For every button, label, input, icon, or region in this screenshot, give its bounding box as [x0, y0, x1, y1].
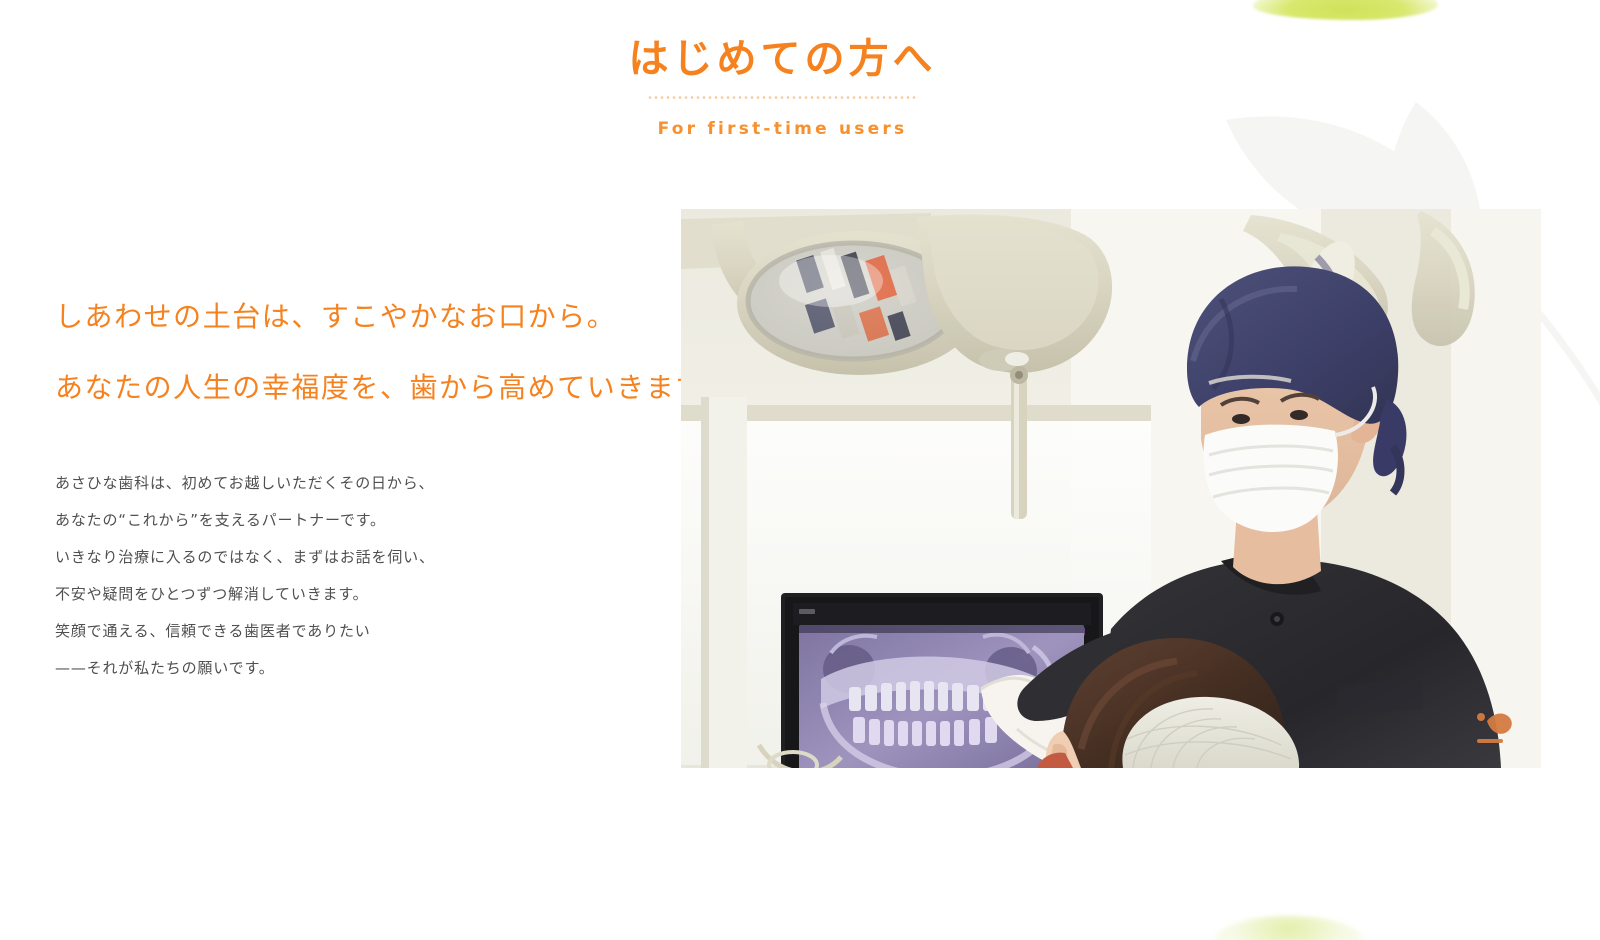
body-line-5: 笑顔で通える、信頼できる歯医者でありたい — [55, 624, 665, 639]
body-line-3: いきなり治療に入るのではなく、まずはお話を伺い、 — [55, 550, 665, 565]
green-brush-stroke-icon — [1214, 916, 1364, 940]
page-title: はじめての方へ — [0, 34, 1565, 84]
clinic-photo-illustration — [681, 209, 1541, 768]
body-line-4: 不安や疑問をひとつずつ解消していきます。 — [55, 587, 665, 602]
green-brush-stroke-icon — [1253, 0, 1438, 20]
section-header: はじめての方へ For first-time users — [0, 34, 1565, 139]
body-line-6: ——それが私たちの願いです。 — [55, 661, 665, 676]
lead-line-2: あなたの人生の幸福度を、歯から高めていきます。 — [55, 371, 665, 404]
clinic-photo — [681, 209, 1541, 768]
title-dotted-rule — [647, 96, 919, 99]
body-line-2: あなたの“これから”を支えるパートナーです。 — [55, 513, 665, 528]
intro-body-copy: あさひな歯科は、初めてお越しいただくその日から、 あなたの“これから”を支えるパ… — [55, 476, 665, 676]
body-line-1: あさひな歯科は、初めてお越しいただくその日から、 — [55, 476, 665, 491]
page-subtitle: For first-time users — [0, 119, 1565, 139]
lead-line-1: しあわせの土台は、すこやかなお口から。 — [55, 300, 665, 333]
intro-copy-column: しあわせの土台は、すこやかなお口から。 あなたの人生の幸福度を、歯から高めていき… — [55, 300, 665, 676]
page-root: はじめての方へ For first-time users しあわせの土台は、すこ… — [0, 0, 1600, 940]
